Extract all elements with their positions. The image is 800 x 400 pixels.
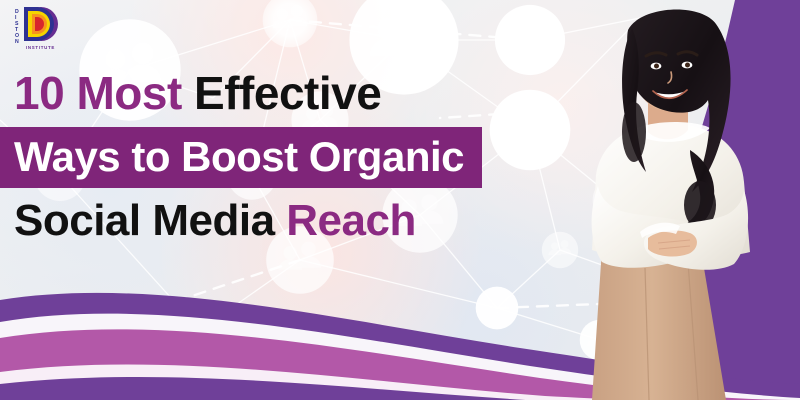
logo-subtitle: INSTITUTE (26, 45, 55, 50)
hands (648, 231, 697, 257)
headline-line-1: 10 Most Effective (0, 70, 560, 116)
svg-text:N: N (15, 39, 19, 45)
headline-line-1-highlight: 10 Most (14, 67, 182, 119)
marketing-banner: D I S T O N INSTITUTE 10 Most Effective … (0, 0, 800, 400)
headline-line-3-rest: Social Media (14, 196, 275, 245)
headline-line-3-highlight: Reach (286, 196, 416, 245)
businesswoman-illustration (540, 0, 800, 400)
headline-block: 10 Most Effective Ways to Boost Organic … (0, 70, 560, 243)
diston-institute-logo[interactable]: D I S T O N INSTITUTE (8, 3, 70, 51)
person-photo (540, 0, 800, 400)
headline-band: Ways to Boost Organic (0, 127, 482, 188)
headline-line-2: Ways to Boost Organic (14, 133, 464, 180)
headline-line-3: Social Media Reach (0, 199, 560, 243)
headline-line-1-rest: Effective (194, 67, 381, 119)
